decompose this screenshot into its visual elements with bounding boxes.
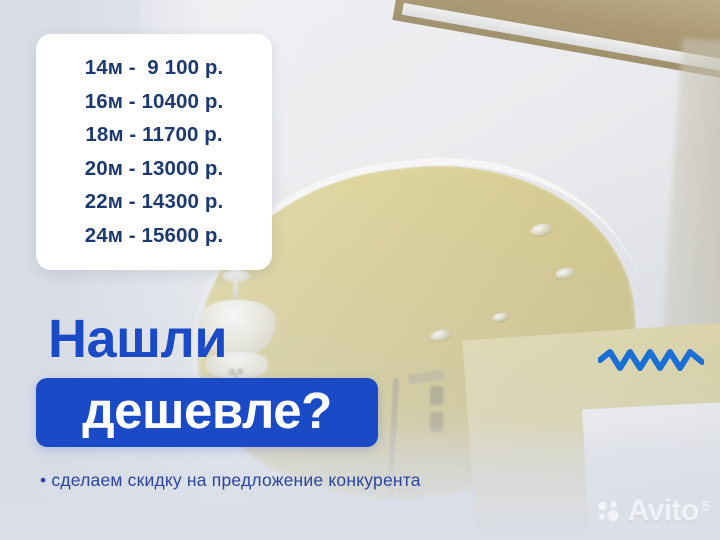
avito-superscript: 5 xyxy=(702,498,710,515)
price-list-card: 14м - 9 100 р. 16м - 10400 р. 18м - 1170… xyxy=(36,34,272,270)
price-row: 24м - 15600 р. xyxy=(85,226,224,247)
avito-watermark: Avito 5 xyxy=(597,496,710,526)
headline-line-2: дешевле? xyxy=(82,385,332,440)
price-row: 22м - 14300 р. xyxy=(85,192,224,213)
price-row: 14м - 9 100 р. xyxy=(85,58,224,79)
avito-dots-logo-icon xyxy=(597,500,623,522)
headline-highlight-box: дешевле? xyxy=(36,378,378,447)
price-row: 20м - 13000 р. xyxy=(85,159,224,180)
avito-brand-text: Avito xyxy=(628,496,699,526)
price-row: 18м - 11700 р. xyxy=(85,125,222,146)
price-row: 16м - 10400 р. xyxy=(85,92,224,113)
avito-ad-image: 14м - 9 100 р. 16м - 10400 р. 18м - 1170… xyxy=(0,0,720,540)
headline-line-1: Нашли xyxy=(48,312,227,366)
tagline-text: • сделаем скидку на предложение конкурен… xyxy=(40,470,421,491)
zigzag-wave-icon xyxy=(598,348,704,372)
